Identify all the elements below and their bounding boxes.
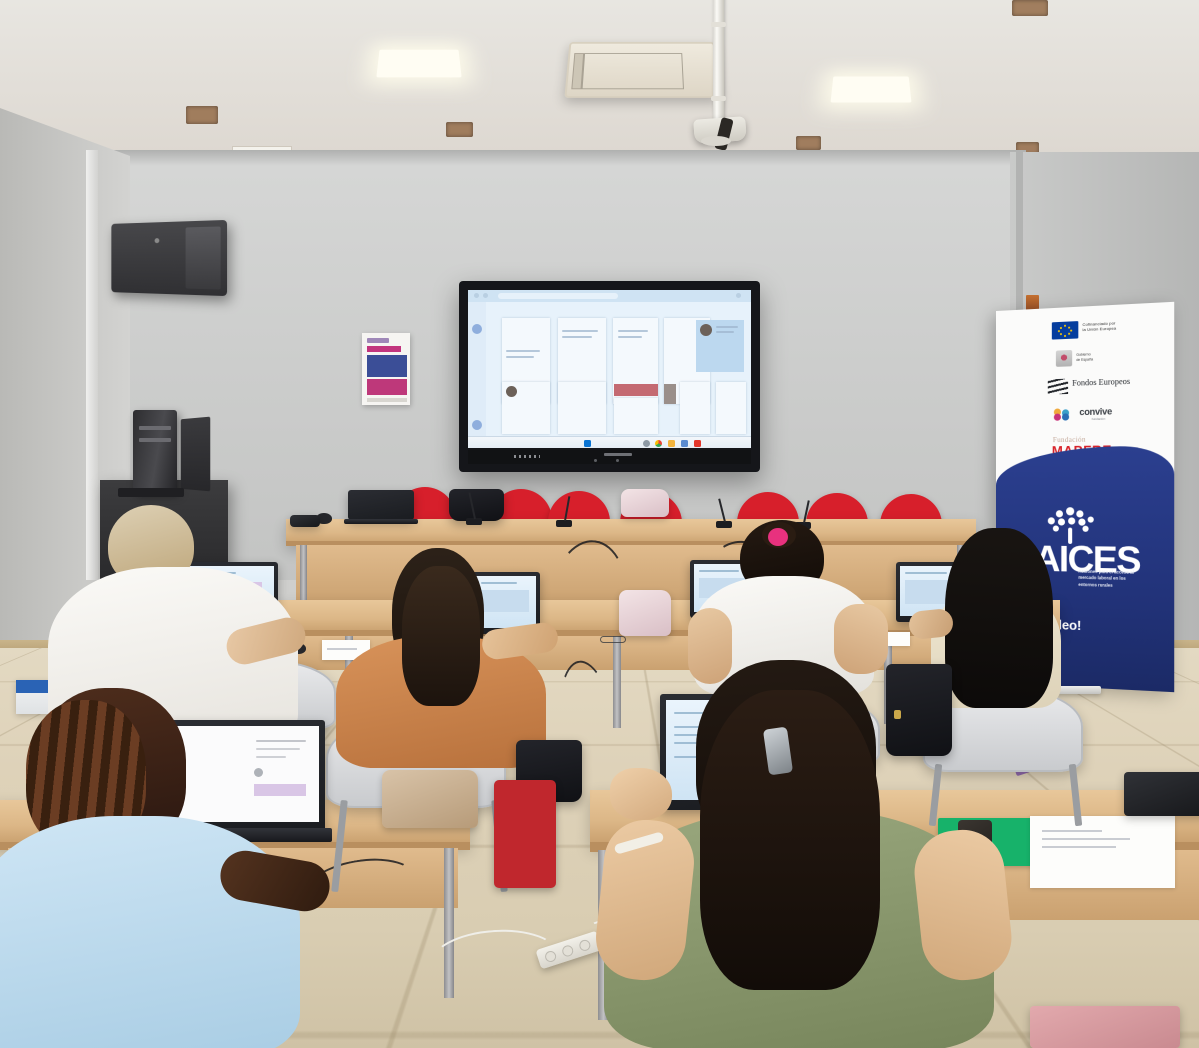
template-card[interactable] xyxy=(558,382,606,434)
convive-label: convive xyxy=(1079,406,1112,417)
beige-handbag xyxy=(382,770,478,828)
desktop-computer-tower xyxy=(133,410,177,492)
network-cabinet xyxy=(111,220,227,296)
desktop-monitor xyxy=(181,417,210,492)
desktop-keyboard[interactable] xyxy=(118,488,184,497)
participant-hair xyxy=(402,566,480,706)
template-card[interactable] xyxy=(614,398,658,434)
power-socket xyxy=(561,944,575,958)
worksheet-paper xyxy=(1030,816,1175,888)
template-avatar xyxy=(506,386,517,397)
youtube-icon[interactable] xyxy=(694,440,701,447)
template-avatar xyxy=(700,324,712,336)
sidebar-icon-home[interactable] xyxy=(472,324,482,334)
projector-pole-band xyxy=(711,22,726,27)
content-line xyxy=(506,350,540,352)
ac-grille xyxy=(582,53,684,89)
convive-sublabel: fundación xyxy=(1092,417,1106,421)
content-line xyxy=(562,336,592,338)
ac-cassette-unit xyxy=(564,42,719,98)
display-control-keys[interactable] xyxy=(514,455,540,458)
template-role-line xyxy=(716,331,734,333)
black-backpack xyxy=(449,489,504,521)
paper-text-line xyxy=(1042,846,1116,848)
optical-drive-slot[interactable] xyxy=(139,426,171,430)
interactive-display[interactable] xyxy=(459,281,760,472)
spanish-government-text: Gobierno de España xyxy=(1076,352,1093,362)
instructor-laptop[interactable] xyxy=(348,490,414,520)
participant-orange-top xyxy=(330,548,550,748)
browser-menu-icon[interactable] xyxy=(736,293,741,298)
participant-olive-green-top xyxy=(588,660,1008,1048)
poster-logo xyxy=(367,338,389,343)
browser-back-icon[interactable] xyxy=(474,293,479,298)
folder-icon[interactable] xyxy=(668,440,675,447)
windows-taskbar[interactable] xyxy=(468,436,751,448)
desk-microphone-base xyxy=(556,520,572,527)
content-line xyxy=(562,330,598,332)
display-screen[interactable] xyxy=(468,290,751,448)
display-bezel-bottom xyxy=(468,450,751,464)
participant-arm xyxy=(480,621,559,661)
browser-forward-icon[interactable] xyxy=(483,293,488,298)
poster-title-bar xyxy=(367,346,401,352)
spanish-government-logo xyxy=(1056,350,1072,367)
cabinet-door[interactable] xyxy=(186,226,221,289)
fondos-europeos-icon xyxy=(1048,379,1068,395)
paper-text-line xyxy=(1042,830,1102,832)
laptop-closed[interactable] xyxy=(1030,1006,1180,1048)
template-photo xyxy=(664,384,676,404)
eu-stars xyxy=(1052,321,1079,340)
convive-logo-icon xyxy=(1054,408,1076,421)
template-name-line xyxy=(716,326,738,328)
participant-hand xyxy=(610,768,672,820)
projector-pole-band xyxy=(711,96,726,101)
content-line xyxy=(618,336,642,338)
chrome-icon[interactable] xyxy=(655,440,662,447)
participant-torso xyxy=(0,816,300,1048)
template-card[interactable] xyxy=(680,382,710,434)
red-bag xyxy=(494,780,556,888)
black-tablet-case[interactable] xyxy=(1124,772,1199,816)
template-card[interactable] xyxy=(716,382,746,434)
projector-foot xyxy=(701,136,731,146)
recessed-light-2 xyxy=(831,76,912,102)
classroom-scene: Cofinanciado por la Unión Europea Gobier… xyxy=(0,0,1199,1048)
content-line xyxy=(618,330,648,332)
cabinet-indicator xyxy=(155,238,160,243)
recessed-light-1 xyxy=(376,50,461,78)
start-icon[interactable] xyxy=(584,440,591,447)
content-line xyxy=(506,356,534,358)
ceiling-vent-2 xyxy=(446,122,473,137)
instructor-laptop-base[interactable] xyxy=(344,519,418,524)
display-brand-label xyxy=(604,453,632,456)
template-card-accent[interactable] xyxy=(614,384,658,396)
browser-address-bar[interactable] xyxy=(498,293,618,299)
search-icon[interactable] xyxy=(643,440,650,447)
participant-hair-long xyxy=(700,690,880,990)
projector-pole xyxy=(713,0,724,126)
left-sidebar-rail[interactable] xyxy=(468,302,486,436)
paper-text-line xyxy=(1042,838,1130,840)
ceiling-vent-3 xyxy=(796,136,821,150)
display-power-led xyxy=(594,459,597,462)
raices-tagline: Acciones para el acceso al mercado labor… xyxy=(1078,569,1145,590)
browser-toolbar[interactable] xyxy=(468,290,751,302)
sidebar-icon-templates[interactable] xyxy=(472,420,482,430)
ceiling-vent-1 xyxy=(186,106,218,124)
wall-top-shadow xyxy=(96,150,1026,166)
docs-icon[interactable] xyxy=(681,440,688,447)
participant-blue-shirt-braids xyxy=(0,688,360,1048)
pink-hair-tie xyxy=(768,528,788,546)
poster-footer-logos xyxy=(367,398,407,402)
display-sensor xyxy=(616,459,619,462)
eu-flag-icon xyxy=(1052,321,1079,340)
ceiling-vent-5 xyxy=(1012,0,1048,16)
power-socket xyxy=(544,950,558,964)
drive-bay-slot xyxy=(139,438,171,442)
poster-text-block xyxy=(367,355,407,377)
wall-poster xyxy=(362,333,410,405)
teacher-pink-pouch xyxy=(621,489,669,517)
poster-highlight-block xyxy=(367,379,407,395)
eu-funding-text: Cofinanciado por la Unión Europea xyxy=(1082,320,1116,333)
fondos-europeos-label: Fondos Europeos xyxy=(1072,377,1130,388)
